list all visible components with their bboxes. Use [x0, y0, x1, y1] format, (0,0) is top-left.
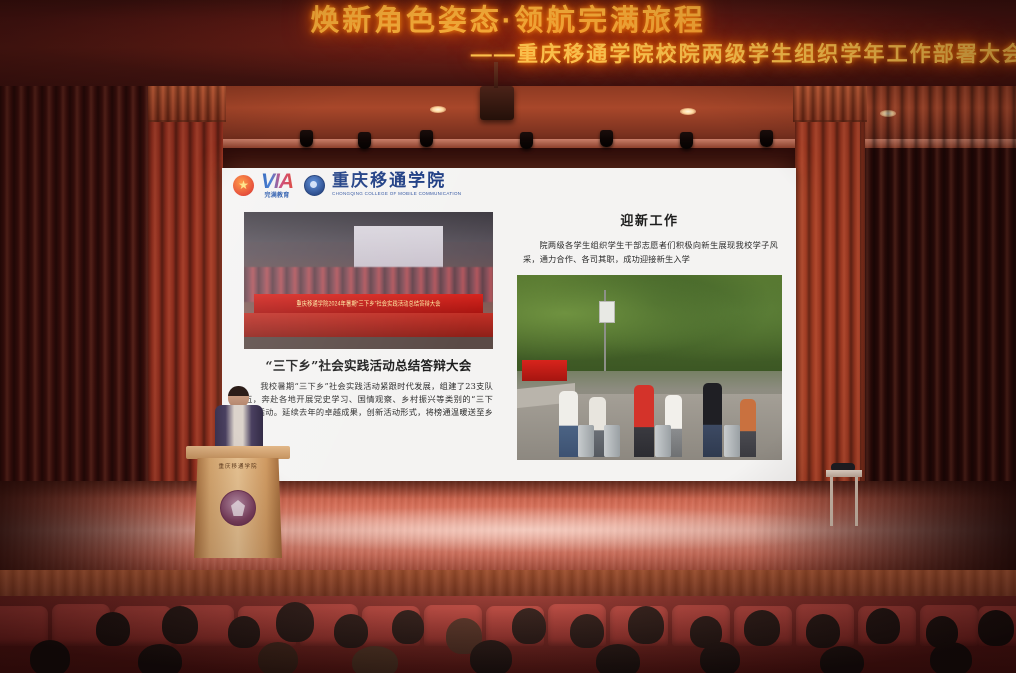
- stage-spotlight-icon: [358, 132, 371, 149]
- via-wordmark: VIA: [261, 171, 293, 192]
- stage-floor: [0, 481, 1016, 580]
- photo-suitcase: [655, 425, 671, 457]
- photo-person: [703, 383, 722, 457]
- school-name-block: 重庆移通学院 CHONGQING COLLEGE OF MOBILE COMMU…: [332, 173, 461, 197]
- school-name-cn: 重庆移通学院: [332, 173, 461, 190]
- via-subtitle: 完满教育: [265, 193, 290, 199]
- photo-floor: [244, 337, 493, 349]
- side-table-leg: [855, 477, 858, 526]
- photo-person: [740, 399, 756, 457]
- podium-crest-icon: [220, 490, 256, 526]
- podium-top: [186, 446, 290, 459]
- curtain-valance-left: [148, 86, 226, 122]
- photo-trees: [517, 275, 782, 371]
- stage-shadow-right: [752, 481, 1016, 580]
- slide-body: 重庆移通学院2024年暑期“三下乡”社会实践活动总结答辩大会 “三下乡”社会实践…: [222, 202, 796, 481]
- stage-spotlight-icon: [300, 130, 313, 147]
- photo-person: [559, 391, 578, 457]
- side-table: [826, 470, 862, 526]
- school-seal-icon: [304, 175, 325, 196]
- auditorium-scene: 焕新角色姿态·领航完满旅程 ——重庆移通学院校院两级学生组织学年工作部署大会 V…: [0, 0, 1016, 673]
- stage-shadow-left: [0, 481, 203, 580]
- right-section-body: 院两级各学生组织学生干部志愿者们积极向新生展现我校学子风采，通力合作、各司其职，…: [523, 238, 778, 266]
- audience-vignette: [0, 596, 1016, 673]
- right-section-title: 迎新工作: [517, 210, 782, 229]
- audience-seating: [0, 596, 1016, 673]
- projection-screen: VIA 完满教育 重庆移通学院 CHONGQING COLLEGE OF MOB…: [222, 168, 796, 481]
- presenter: [215, 386, 263, 454]
- side-table-leg: [830, 477, 833, 526]
- via-logo: VIA 完满教育: [261, 171, 293, 199]
- side-table-top: [826, 470, 862, 477]
- photo-suitcase: [604, 425, 620, 457]
- photo-sign: [599, 301, 615, 323]
- ceiling-projector: [480, 86, 514, 120]
- banner-subtitle: ——重庆移通学院校院两级学生组织学年工作部署大会: [0, 42, 1016, 68]
- led-banner: 焕新角色姿态·领航完满旅程 ——重庆移通学院校院两级学生组织学年工作部署大会: [0, 0, 1016, 86]
- photo-person-volunteer: [634, 385, 654, 457]
- school-name-en: CHONGQING COLLEGE OF MOBILE COMMUNICATIO…: [332, 192, 461, 197]
- podium-area: 重庆移通学院: [186, 386, 290, 558]
- photo-suitcase: [724, 425, 740, 457]
- left-section-title: “三下乡”社会实践活动总结答辩大会: [244, 358, 493, 375]
- downlight-icon: [680, 108, 696, 115]
- podium-school-text: 重庆移通学院: [186, 462, 290, 470]
- stage-spotlight-icon: [420, 130, 433, 147]
- stage-spotlight-icon: [600, 130, 613, 147]
- slide-column-right: 迎新工作 院两级各学生组织学生干部志愿者们积极向新生展现我校学子风采，通力合作、…: [509, 202, 796, 481]
- downlight-icon: [430, 106, 446, 113]
- podium: 重庆移通学院: [186, 446, 290, 558]
- stage-spotlight-icon: [520, 132, 533, 149]
- stage-spotlight-icon: [760, 130, 773, 147]
- curtain-valance-right: [793, 86, 867, 122]
- photo-table: [244, 313, 493, 338]
- slide-header: VIA 完满教育 重庆移通学院 CHONGQING COLLEGE OF MOB…: [222, 168, 796, 202]
- photo-new-student-arrival: [517, 275, 782, 460]
- photo-suitcase: [578, 425, 594, 457]
- photo-red-banner: 重庆移通学院2024年暑期“三下乡”社会实践活动总结答辩大会: [254, 294, 483, 313]
- photo-red-banner-text: 重庆移通学院2024年暑期“三下乡”社会实践活动总结答辩大会: [296, 299, 440, 308]
- photo-welcome-banner: [522, 360, 567, 380]
- photo-group-conference: 重庆移通学院2024年暑期“三下乡”社会实践活动总结答辩大会: [244, 212, 493, 349]
- stage-spotlight-icon: [680, 132, 693, 149]
- youth-league-emblem-icon: [233, 175, 254, 196]
- banner-title: 焕新角色姿态·领航完满旅程: [0, 4, 1016, 38]
